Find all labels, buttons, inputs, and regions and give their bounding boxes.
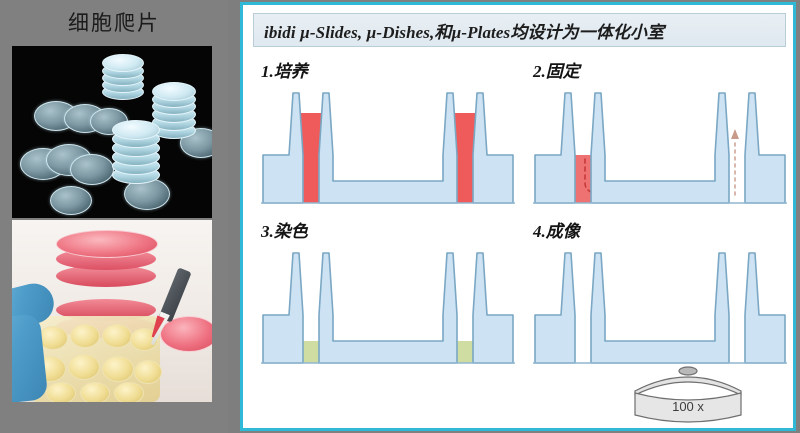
- chamber-walls: [263, 93, 513, 203]
- step-panel-culture: 1.培养: [255, 57, 521, 222]
- objective-tip: [679, 367, 697, 375]
- step-label-2: 2.固定: [533, 57, 580, 82]
- microscope-objective: 100 x: [623, 365, 753, 427]
- coverslip-stack: [102, 54, 142, 98]
- objective-cone: [635, 377, 741, 395]
- objective-svg: 100 x: [623, 365, 753, 427]
- divider: [228, 0, 240, 433]
- flow-arrow-head-right: [731, 129, 739, 139]
- page-title: 细胞爬片: [0, 6, 228, 42]
- step-panel-fixation: 2.固定: [527, 57, 793, 222]
- chamber-svg: [527, 243, 793, 381]
- chamber-diagram-4: [527, 243, 793, 381]
- chamber-diagram-3: [255, 243, 521, 381]
- step-label-1: 1.培养: [261, 57, 308, 82]
- screenshot-root: 细胞爬片: [0, 0, 800, 433]
- chamber-svg: [255, 83, 521, 221]
- cell-culture-photo: [12, 220, 212, 402]
- step-panel-staining: 3.染色: [255, 217, 521, 382]
- multiwell-plate: [30, 316, 160, 402]
- diagram-panel: ibidi µ-Slides, µ-Dishes,和µ-Plates均设计为一体…: [240, 2, 796, 431]
- coverslip-stack: [112, 124, 158, 182]
- step-label-4: 4.成像: [533, 217, 580, 242]
- step-label-3: 3.染色: [261, 217, 308, 242]
- banner-text: ibidi µ-Slides, µ-Dishes,和µ-Plates均设计为一体…: [264, 18, 664, 43]
- chamber-walls: [263, 253, 513, 363]
- left-column: 细胞爬片: [0, 0, 228, 433]
- step-panel-imaging: 4.成像: [527, 217, 793, 392]
- chamber-walls: [535, 253, 785, 363]
- chamber-svg: [255, 243, 521, 381]
- chamber-walls: [535, 93, 785, 203]
- banner: ibidi µ-Slides, µ-Dishes,和µ-Plates均设计为一体…: [253, 13, 786, 47]
- chamber-diagram-2: [527, 83, 793, 221]
- coverslips-photo: [12, 46, 212, 218]
- chamber-diagram-1: [255, 83, 521, 221]
- objective-magnification-label: 100 x: [672, 399, 704, 414]
- chamber-svg: [527, 83, 793, 221]
